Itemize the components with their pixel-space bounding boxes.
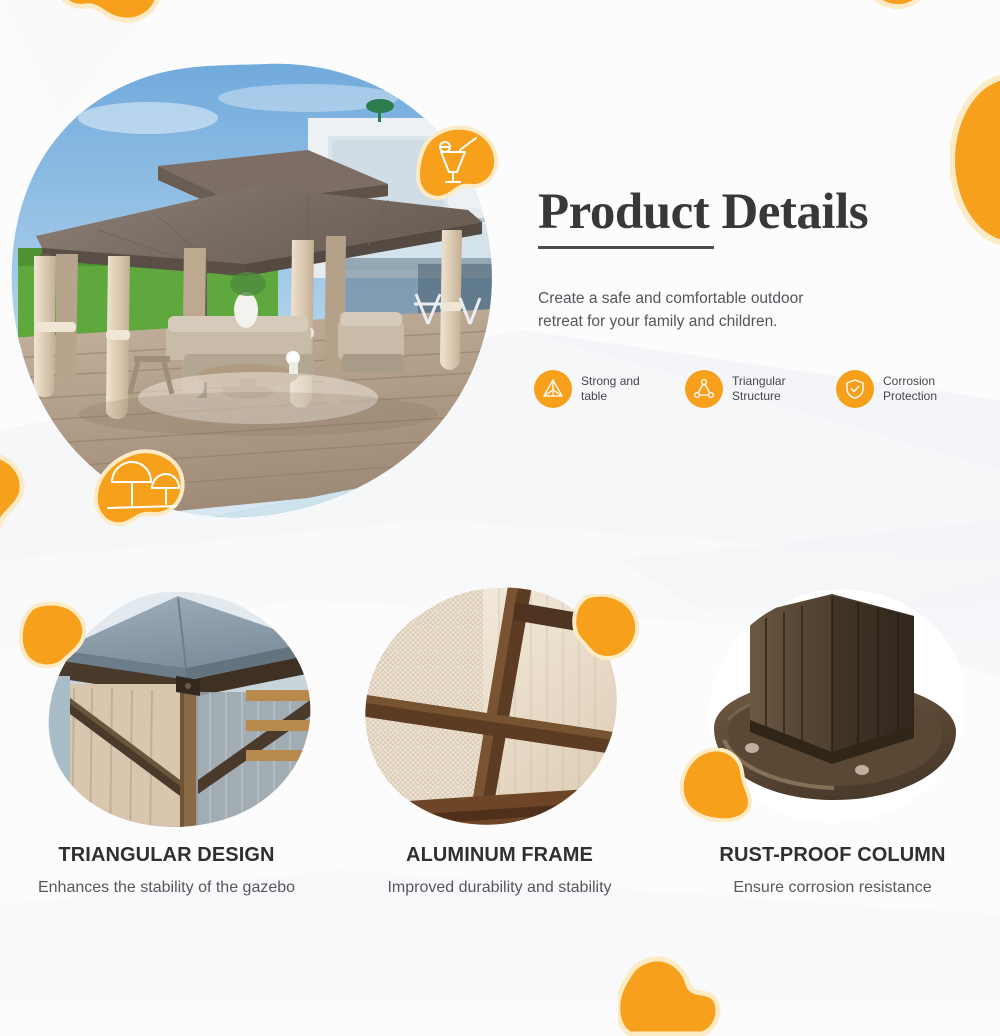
card-description: Improved durability and stability bbox=[333, 877, 666, 900]
feature-item-triangular: Triangular Structure bbox=[685, 370, 810, 408]
gazebo-corner-bracing-photo bbox=[0, 580, 333, 842]
hero-badge-cocktail bbox=[418, 128, 496, 198]
feature-label: Strong and table bbox=[581, 374, 659, 405]
column-base-photo bbox=[666, 580, 999, 842]
detail-card-triangular-design: TRIANGULAR DESIGN Enhances the stability… bbox=[0, 580, 333, 960]
detail-card-rust-proof-column: RUST-PROOF COLUMN Ensure corrosion resis… bbox=[666, 580, 999, 960]
blob-bottom bbox=[618, 956, 728, 1036]
pyramid-icon bbox=[534, 370, 572, 408]
card-title: ALUMINUM FRAME bbox=[333, 844, 666, 867]
feature-label: Corrosion Protection bbox=[883, 374, 961, 405]
feature-item-corrosion: Corrosion Protection bbox=[836, 370, 961, 408]
blob-top-left bbox=[52, 0, 172, 56]
card-description: Ensure corrosion resistance bbox=[666, 877, 999, 900]
card-title: TRIANGULAR DESIGN bbox=[0, 844, 333, 867]
detail-card-aluminum-frame: ALUMINUM FRAME Improved durability and s… bbox=[333, 580, 666, 960]
page-title: Product Details bbox=[538, 186, 968, 240]
hero-image bbox=[8, 58, 508, 538]
card-description: Enhances the stability of the gazebo bbox=[0, 877, 333, 900]
feature-item-strong: Strong and table bbox=[534, 370, 659, 408]
detail-cards: TRIANGULAR DESIGN Enhances the stability… bbox=[0, 580, 1000, 960]
shield-check-icon bbox=[836, 370, 874, 408]
aluminum-ceiling-beams-photo bbox=[333, 580, 666, 842]
feature-label: Triangular Structure bbox=[732, 374, 810, 405]
triangle-nodes-icon bbox=[685, 370, 723, 408]
title-underline bbox=[538, 246, 714, 249]
page-subtitle: Create a safe and comfortable outdoor re… bbox=[538, 287, 848, 334]
blob-top-right bbox=[862, 0, 942, 40]
header-text-block: Product Details Create a safe and comfor… bbox=[538, 186, 968, 333]
feature-list: Strong and table Triangular Structure Co… bbox=[534, 370, 986, 408]
card-title: RUST-PROOF COLUMN bbox=[666, 844, 999, 867]
